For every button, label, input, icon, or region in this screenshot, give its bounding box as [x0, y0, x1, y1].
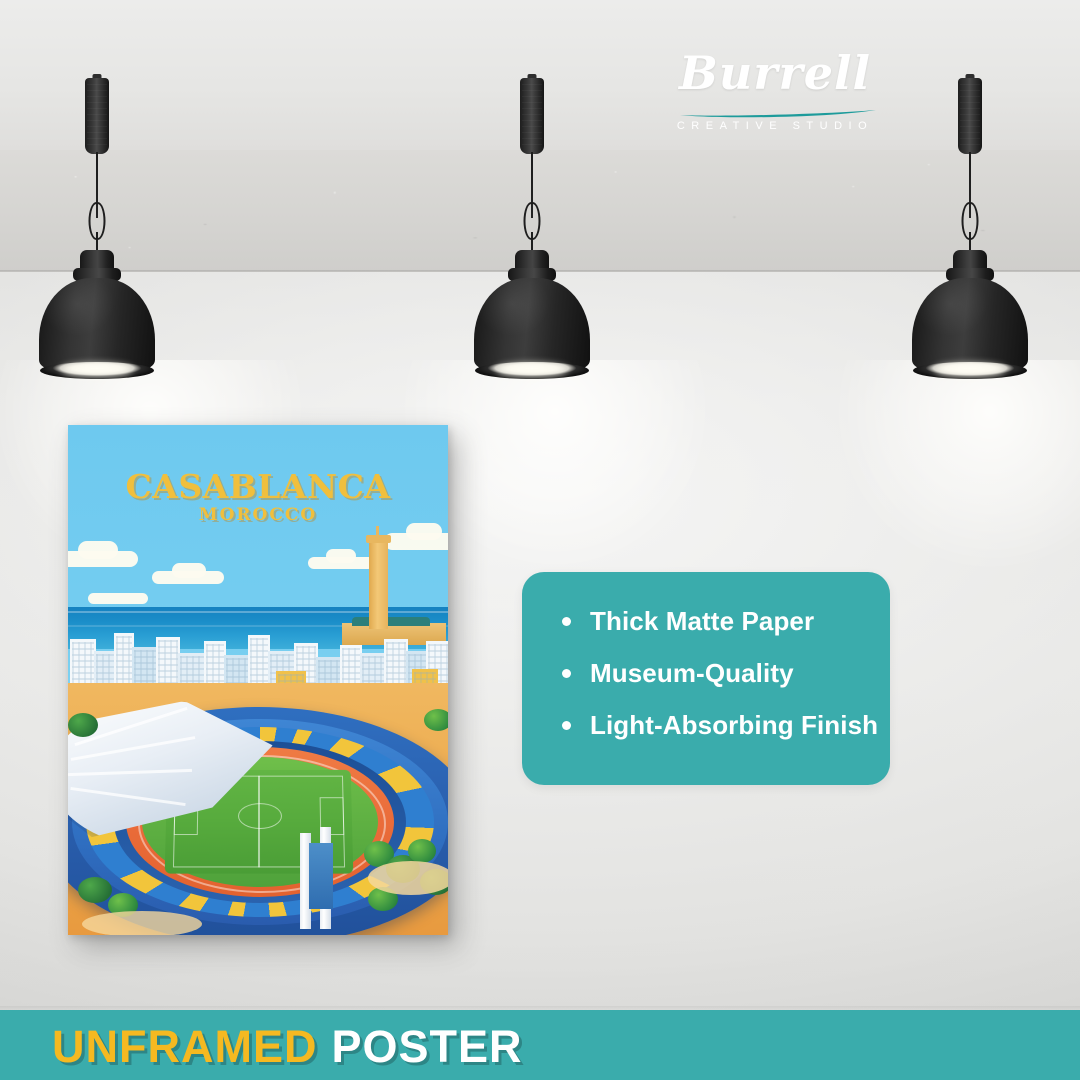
minaret — [369, 541, 388, 629]
cloud — [406, 523, 442, 540]
tree — [78, 877, 112, 903]
cloud — [326, 549, 356, 563]
feature-callout-box: Thick Matte Paper Museum-Quality Light-A… — [522, 572, 890, 785]
city-building — [114, 633, 134, 689]
brand-name: Burrell — [640, 46, 910, 100]
cloud — [88, 593, 148, 604]
brand-logo: Burrell CREATIVE STUDIO — [640, 46, 910, 150]
feature-item: Light-Absorbing Finish — [558, 712, 890, 738]
poster-subtitle: MOROCCO — [68, 505, 448, 525]
city-building — [70, 639, 96, 687]
lamp-bulb-glow — [62, 364, 132, 376]
banner-word-poster: POSTER — [331, 1021, 522, 1072]
lamp-canopy — [958, 78, 982, 154]
tree — [424, 709, 448, 731]
feature-item: Thick Matte Paper — [558, 608, 890, 634]
product-mockup-scene: Burrell CREATIVE STUDIO — [0, 0, 1080, 1080]
poster-title: CASABLANCA — [68, 467, 448, 506]
stadium-tower-deck — [309, 843, 333, 909]
brand-tagline: CREATIVE STUDIO — [640, 120, 910, 132]
lamp-canopy — [85, 78, 109, 154]
banner-text: UNFRAMEDPOSTER — [52, 1021, 523, 1073]
minaret-crown — [366, 535, 391, 543]
walking-path — [368, 861, 448, 895]
cloud — [172, 563, 206, 578]
cloud — [78, 541, 118, 559]
tree — [68, 713, 98, 737]
pitch-center-line — [258, 776, 260, 868]
banner-word-unframed: UNFRAMED — [52, 1021, 317, 1072]
brand-swoosh-icon — [678, 108, 878, 119]
mosque-roof — [352, 617, 430, 626]
lamp-bulb-glow — [497, 364, 567, 376]
feature-list: Thick Matte Paper Museum-Quality Light-A… — [522, 572, 890, 738]
sea-horizon-line — [68, 611, 448, 613]
bottom-banner: UNFRAMEDPOSTER — [0, 1010, 1080, 1080]
minaret-spire — [376, 526, 379, 536]
feature-item: Museum-Quality — [558, 660, 890, 686]
lamp-bulb-glow — [935, 364, 1005, 376]
walking-path — [82, 911, 202, 935]
poster-artwork[interactable]: CASABLANCA MOROCCO — [68, 425, 448, 935]
lamp-canopy — [520, 78, 544, 154]
tree — [408, 839, 436, 863]
